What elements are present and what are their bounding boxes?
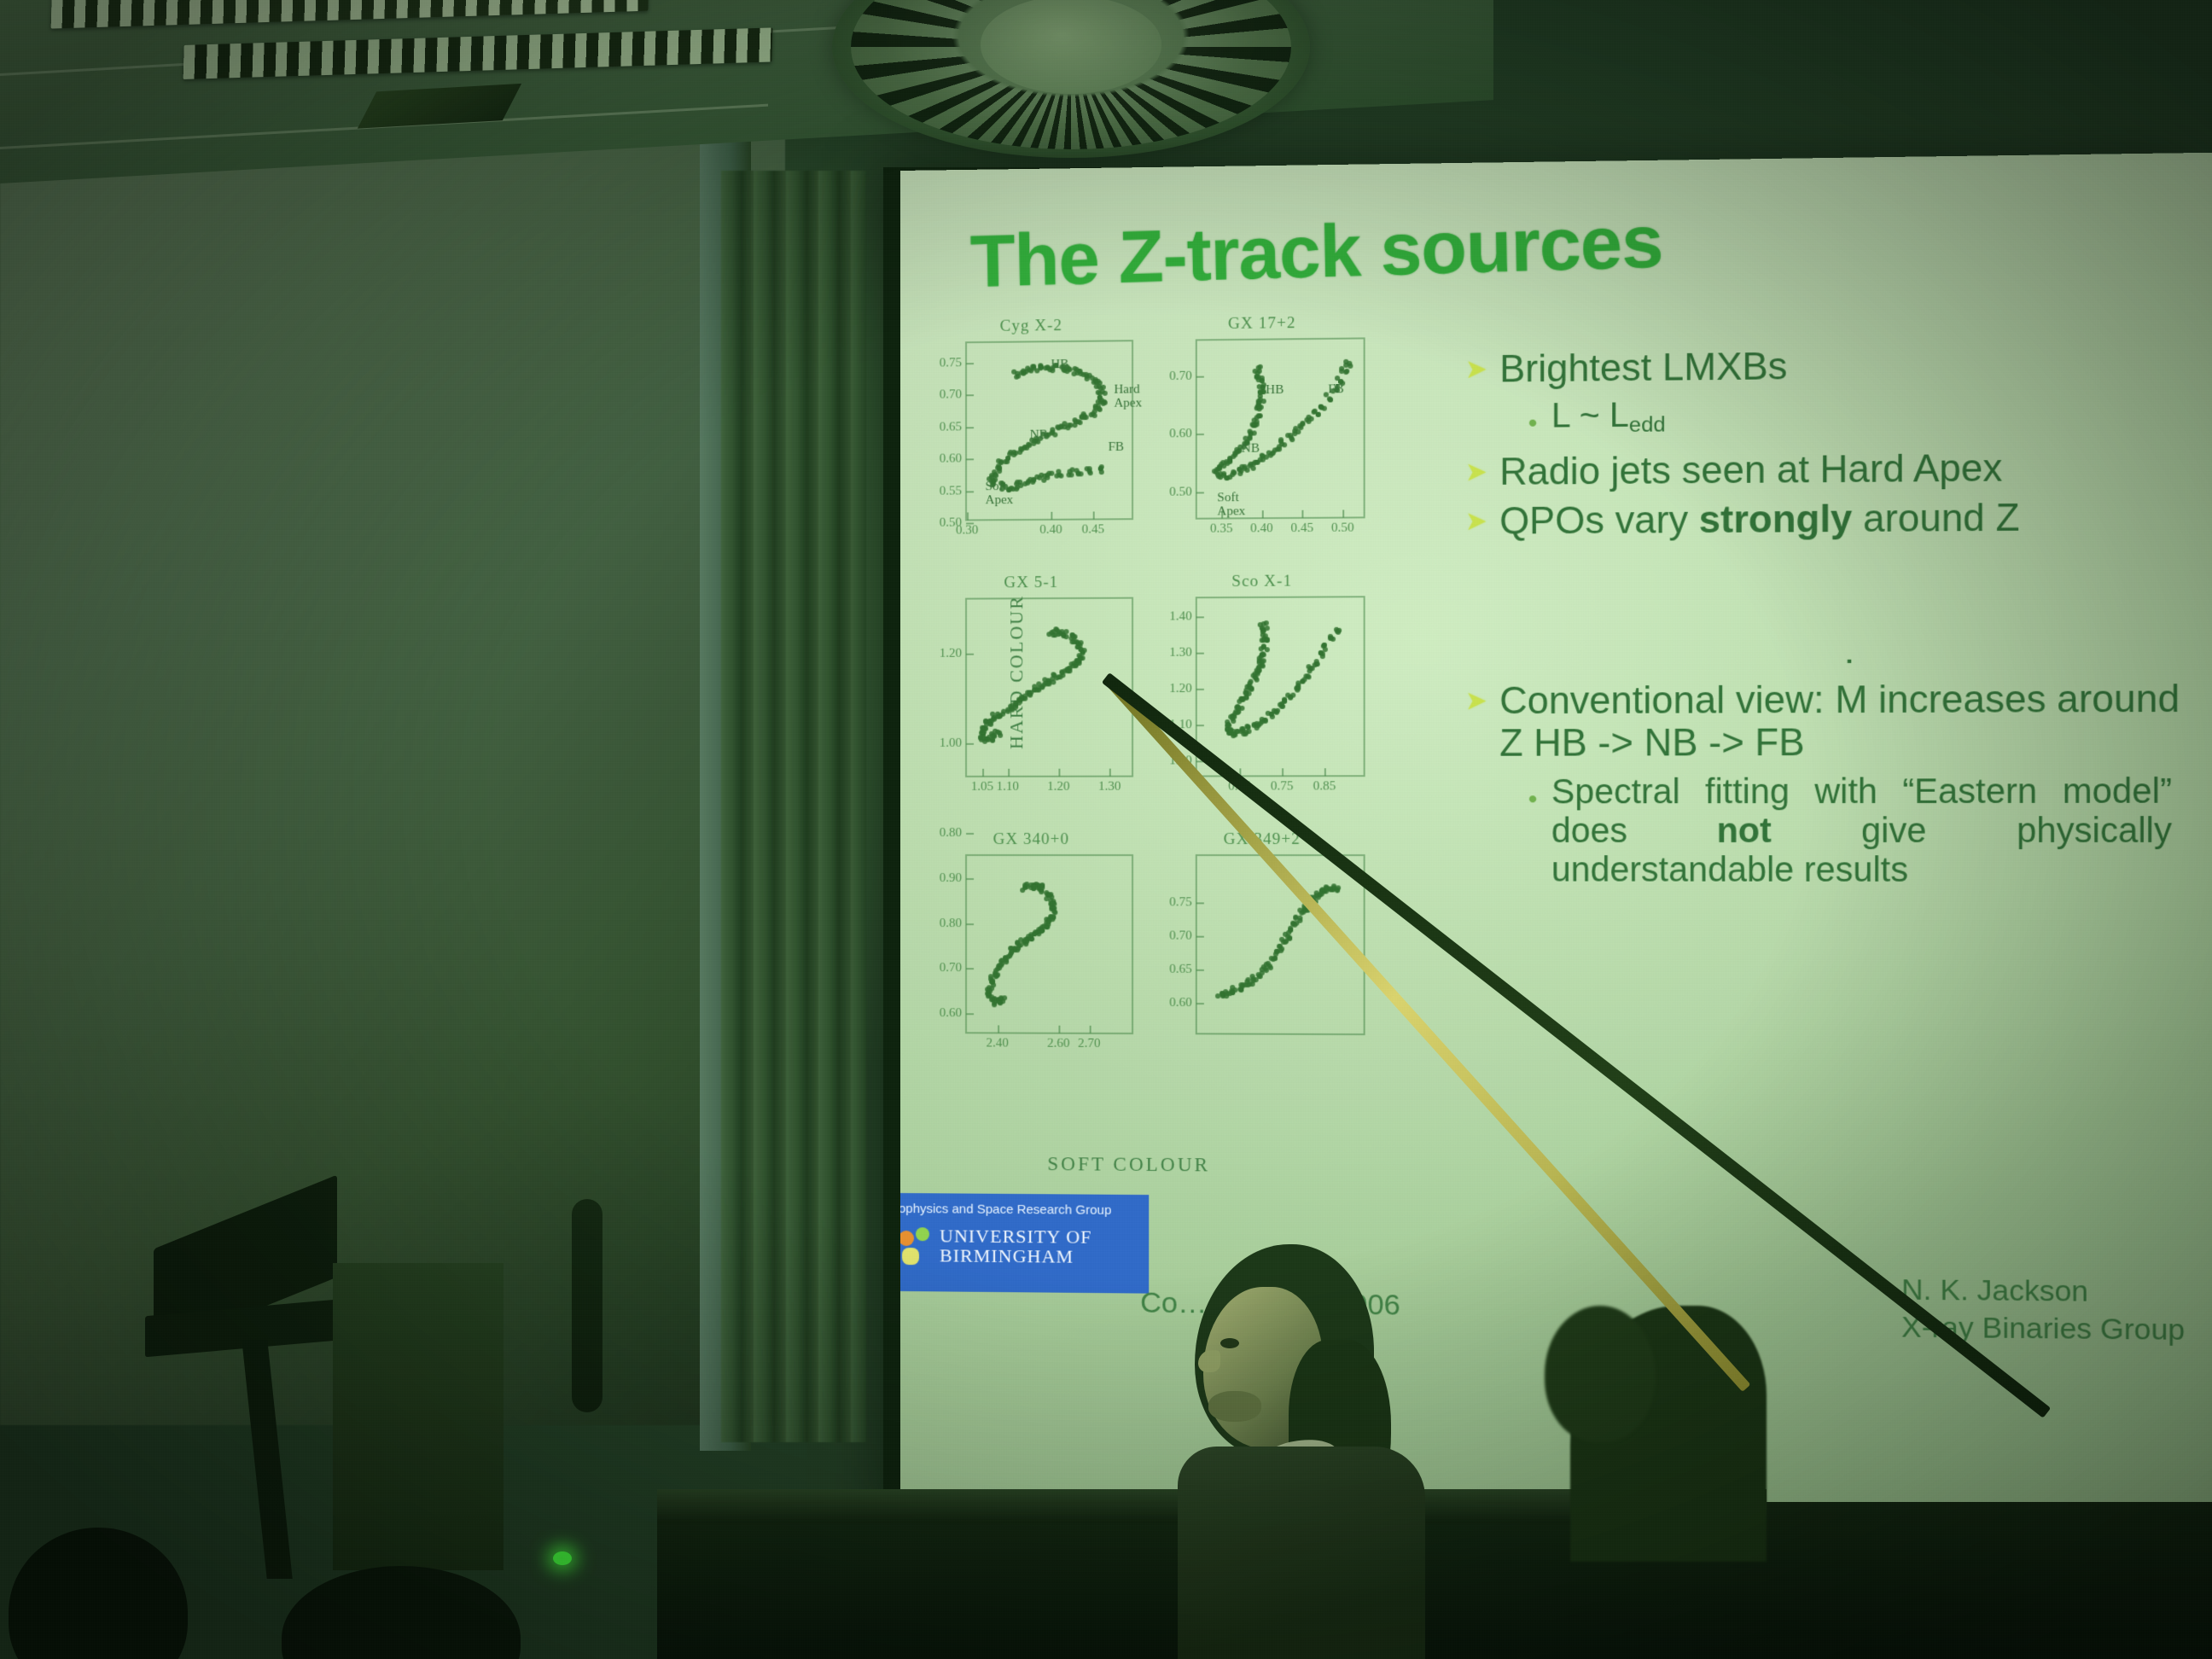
curtain [721, 171, 866, 1442]
dot-bullet-icon: • [1528, 787, 1538, 812]
panel-annotation: HB [1051, 358, 1068, 372]
bullet-item: • Spectral fitting with “Eastern model” … [1528, 772, 2192, 890]
data-point [1237, 471, 1243, 476]
data-point [1264, 962, 1269, 967]
y-tick-label: 0.75 [940, 355, 962, 370]
y-tick-label: 1.20 [940, 646, 962, 661]
x-tick-label: 0.45 [1290, 521, 1313, 536]
x-tick [1342, 509, 1344, 517]
bullet-item: ➤ QPOs vary strongly around Z [1465, 496, 2192, 544]
data-point [1000, 998, 1005, 1004]
arrow-bullet-icon: ➤ [1465, 509, 1487, 536]
data-point [1076, 471, 1081, 476]
data-point [1058, 424, 1063, 429]
data-point [1092, 413, 1097, 418]
panel-title: Cyg X-2 [924, 316, 1138, 337]
panel-annotation: Soft Apex [1217, 492, 1257, 519]
bullet-item: ➤ Brightest LMXBs [1465, 341, 2192, 391]
y-tick-label: 0.65 [940, 419, 962, 434]
photo-scene: The Z-track sources HARD COLOUR SOFT COL… [0, 0, 2212, 1659]
figure-panel-grid: Cyg X-20.750.700.650.600.550.500.300.400… [919, 314, 1445, 320]
scatter-panel: GX 17+20.700.600.500.350.400.450.50HBFBN… [1154, 315, 1370, 549]
x-tick [1261, 510, 1263, 518]
y-tick [1196, 969, 1204, 971]
data-point [1027, 693, 1033, 698]
panel-plot-area: 0.900.800.700.602.402.602.70 [965, 854, 1133, 1034]
x-tick [982, 769, 984, 777]
y-tick-label: 0.65 [1169, 962, 1192, 976]
slide-title: The Z-track sources [969, 199, 1663, 305]
panel-annotation: Hard Apex [1114, 383, 1153, 410]
data-point [1066, 422, 1071, 428]
x-tick-label: 0.40 [1039, 523, 1062, 538]
y-tick-label: 0.55 [940, 483, 962, 498]
data-point [1039, 885, 1045, 890]
data-point [1054, 474, 1059, 479]
data-point [1051, 679, 1057, 684]
data-point [1293, 916, 1298, 921]
y-tick [966, 654, 974, 655]
data-point [1250, 974, 1255, 979]
equipment-led-indicator [553, 1551, 572, 1565]
x-tick [1008, 769, 1010, 777]
data-point [1216, 474, 1221, 479]
data-point [1065, 668, 1070, 673]
data-point [1286, 930, 1291, 935]
x-tick [1089, 1026, 1091, 1033]
slide-bullet-list: ➤ Brightest LMXBs • L ~ Ledd ➤ Radio jet… [1465, 341, 2192, 897]
bullet-text: Spectral fitting with “Eastern model” do… [1551, 772, 2172, 890]
data-point [1064, 629, 1069, 634]
data-point [1224, 458, 1229, 463]
stage-front-panel [657, 1502, 2212, 1659]
y-tick-label: 0.70 [940, 961, 962, 975]
bullet-item: ➤ Radio jets seen at Hard Apex [1465, 445, 2192, 494]
panel-annotation: Soft Apex [986, 480, 1025, 508]
data-point [1283, 699, 1288, 704]
data-point [1227, 474, 1232, 480]
data-point [1045, 473, 1050, 478]
speaker-person [1169, 1237, 1425, 1659]
data-point [1285, 433, 1290, 438]
y-tick-label: 0.80 [940, 916, 962, 930]
y-tick [966, 878, 974, 880]
y-tick [1196, 1003, 1204, 1004]
data-point [1032, 931, 1037, 936]
data-point [1088, 470, 1093, 475]
y-tick [1196, 616, 1204, 618]
x-tick-label: 0.50 [1331, 521, 1354, 536]
equipment-cabinet [333, 1263, 504, 1570]
data-point [1313, 662, 1318, 667]
data-point [1078, 420, 1083, 425]
data-point [1320, 655, 1325, 660]
y-tick-label: 1.40 [1169, 609, 1192, 624]
y-tick-label: 0.90 [940, 871, 962, 886]
arrow-bullet-icon: ➤ [1465, 460, 1487, 486]
data-point [1004, 459, 1010, 464]
x-tick [1302, 510, 1304, 518]
x-tick [1324, 768, 1326, 776]
left-wall [0, 94, 785, 1425]
y-tick-label: 0.60 [940, 1005, 962, 1020]
y-tick [966, 1013, 974, 1015]
data-point [1249, 422, 1254, 428]
x-tick-label: 1.30 [1098, 780, 1121, 795]
y-tick-label: 1.30 [1169, 645, 1192, 660]
x-tick-label: 2.60 [1047, 1037, 1069, 1051]
panel-plot-area: 0.700.600.500.350.400.450.50HBFBNBSoft A… [1196, 337, 1365, 519]
y-tick [966, 458, 974, 460]
y-tick [1196, 725, 1204, 726]
data-point [1228, 714, 1233, 719]
data-point [1344, 369, 1349, 374]
data-point [1298, 918, 1303, 923]
data-point [1257, 399, 1262, 405]
x-tick-label: 2.70 [1078, 1037, 1100, 1051]
data-point [1265, 637, 1270, 643]
y-tick [966, 923, 974, 925]
scatter-panel: GX 340+00.900.800.700.602.402.602.70 [924, 832, 1138, 1063]
y-tick-label: 0.60 [1169, 427, 1192, 441]
y-tick [1196, 434, 1204, 435]
bullet-text: L ~ Ledd [1551, 396, 1666, 439]
data-point [1255, 377, 1260, 382]
data-point [1063, 634, 1068, 639]
y-tick [966, 394, 974, 396]
data-point [1292, 923, 1297, 928]
y-tick-label: 1.00 [940, 736, 962, 750]
y-tick-label: 0.60 [1169, 996, 1192, 1010]
scatter-panel: GX 5-11.201.000.801.051.101.201.30 [924, 574, 1138, 806]
data-point [1031, 478, 1036, 483]
arrow-bullet-icon: ➤ [1465, 357, 1487, 383]
footer-author: N. K. Jackson [1901, 1272, 2185, 1311]
panel-annotation: FB [1328, 383, 1344, 397]
data-point [1239, 985, 1244, 990]
data-point [1046, 632, 1051, 637]
fan-hub [981, 0, 1162, 94]
x-tick [998, 1025, 999, 1033]
x-tick [1058, 769, 1060, 777]
x-tick [1058, 1026, 1060, 1033]
y-tick [966, 743, 974, 745]
y-tick-label: 0.70 [1169, 928, 1192, 943]
data-point [1306, 419, 1311, 424]
logo-crest-icon [900, 1227, 933, 1268]
bullet-text: Conventional view: M increases around Z … [1499, 678, 2192, 765]
panel-title: Sco X-1 [1154, 572, 1370, 592]
y-tick [1196, 936, 1204, 938]
data-point [1306, 673, 1311, 678]
data-point [1217, 466, 1222, 471]
bullet-text: Radio jets seen at Hard Apex [1499, 447, 2002, 494]
y-tick-label: 0.75 [1169, 895, 1192, 910]
y-tick-label: 1.20 [1169, 681, 1192, 696]
y-tick-label: 0.60 [940, 451, 962, 466]
data-point [1259, 637, 1264, 643]
microphone [572, 1199, 602, 1412]
panel-title: GX 5-1 [924, 573, 1138, 592]
panel-annotation: HB [1266, 384, 1284, 398]
bullet-text: QPOs vary strongly around Z [1499, 497, 2020, 543]
data-point [1101, 401, 1106, 406]
data-point [1328, 398, 1333, 403]
ceiling-square-vent [358, 84, 521, 129]
y-tick [966, 968, 974, 969]
data-point [1254, 675, 1259, 680]
y-tick [1196, 689, 1204, 690]
y-tick [966, 491, 974, 492]
data-point [1256, 723, 1261, 728]
data-point [1323, 647, 1328, 652]
panel-plot-area: 1.401.301.201.101.000.650.750.85 [1196, 596, 1365, 777]
data-point [1061, 672, 1066, 678]
projected-slide: The Z-track sources HARD COLOUR SOFT COL… [900, 153, 2212, 1538]
x-tick-label: 0.35 [1210, 521, 1233, 536]
dot-bullet-icon: • [1528, 411, 1538, 437]
y-tick [966, 363, 974, 364]
data-point [1256, 405, 1261, 410]
data-point [1230, 990, 1235, 995]
ceiling-vent-strip [183, 27, 773, 79]
data-point [1289, 437, 1295, 442]
logo-group-line: ophysics and Space Research Group [900, 1202, 1111, 1218]
x-tick [1109, 769, 1111, 777]
bullet-emphasis: strongly [1699, 498, 1853, 542]
y-tick-label: 0.70 [940, 387, 962, 402]
data-point [1260, 717, 1265, 722]
logo-line3: BIRMINGHAM [940, 1244, 1074, 1266]
x-tick-label: 1.20 [1047, 780, 1069, 795]
data-point [994, 973, 999, 978]
panel-title: GX 340+0 [924, 830, 1138, 849]
x-tick-label: 0.85 [1313, 779, 1336, 794]
bullet-item: • L ~ Ledd [1528, 392, 2192, 439]
y-tick-label: 0.70 [1169, 369, 1192, 383]
x-tick [1093, 511, 1095, 519]
data-point [1246, 729, 1251, 734]
bullet-text-main: L ~ L [1551, 397, 1629, 435]
data-point [1307, 668, 1312, 673]
x-tick-label: 0.30 [956, 523, 978, 538]
x-tick-label: 1.05 [971, 780, 993, 795]
data-point [1230, 985, 1235, 990]
panel-annotation: FB [1108, 441, 1124, 455]
y-tick [1196, 492, 1204, 494]
data-point [1233, 452, 1238, 457]
data-point [1269, 956, 1274, 961]
arrow-bullet-icon: ➤ [1465, 689, 1487, 714]
data-point [1098, 469, 1103, 474]
panel-title: GX 17+2 [1154, 313, 1370, 335]
x-tick-label: 0.75 [1271, 779, 1294, 794]
head-shadow [1545, 1306, 1656, 1442]
x-tick-label: 0.45 [1081, 522, 1103, 537]
y-tick [966, 427, 974, 428]
bullet-subscript: edd [1629, 414, 1666, 438]
x-tick [1282, 768, 1284, 776]
ceiling-vent-strip [51, 0, 649, 28]
bullet-emphasis: not [1717, 812, 1772, 850]
panel-annotation: NB [1030, 429, 1048, 443]
y-tick [1196, 375, 1204, 377]
y-tick [1196, 653, 1204, 655]
x-tick-label: 0.40 [1250, 521, 1273, 536]
panel-plot-area: 0.750.700.650.600.550.500.300.400.45HBHa… [965, 340, 1133, 521]
y-tick-label: 0.50 [1169, 485, 1192, 499]
bullet-text: Brightest LMXBs [1499, 346, 1787, 391]
x-tick [967, 512, 969, 520]
panel-annotation: NB [1242, 442, 1260, 456]
data-point [1282, 443, 1287, 448]
university-logo: ophysics and Space Research Group UNIVER… [900, 1193, 1149, 1294]
data-point [1231, 470, 1237, 475]
data-point [1081, 648, 1086, 653]
figure-x-axis-label: SOFT COLOUR [1047, 1153, 1210, 1176]
y-tick [1196, 903, 1204, 905]
x-tick-label: 2.40 [987, 1036, 1009, 1051]
bullet-item: ➤ Conventional view: M increases around … [1465, 678, 2192, 765]
scatter-panel: Cyg X-20.750.700.650.600.550.500.300.400… [924, 317, 1138, 550]
m-dot-symbol: M [1835, 678, 1867, 721]
x-tick-label: 1.10 [996, 780, 1018, 795]
logo-university-name: UNIVERSITY OF BIRMINGHAM [940, 1225, 1091, 1266]
x-tick [1051, 512, 1052, 520]
data-point [1278, 948, 1284, 953]
